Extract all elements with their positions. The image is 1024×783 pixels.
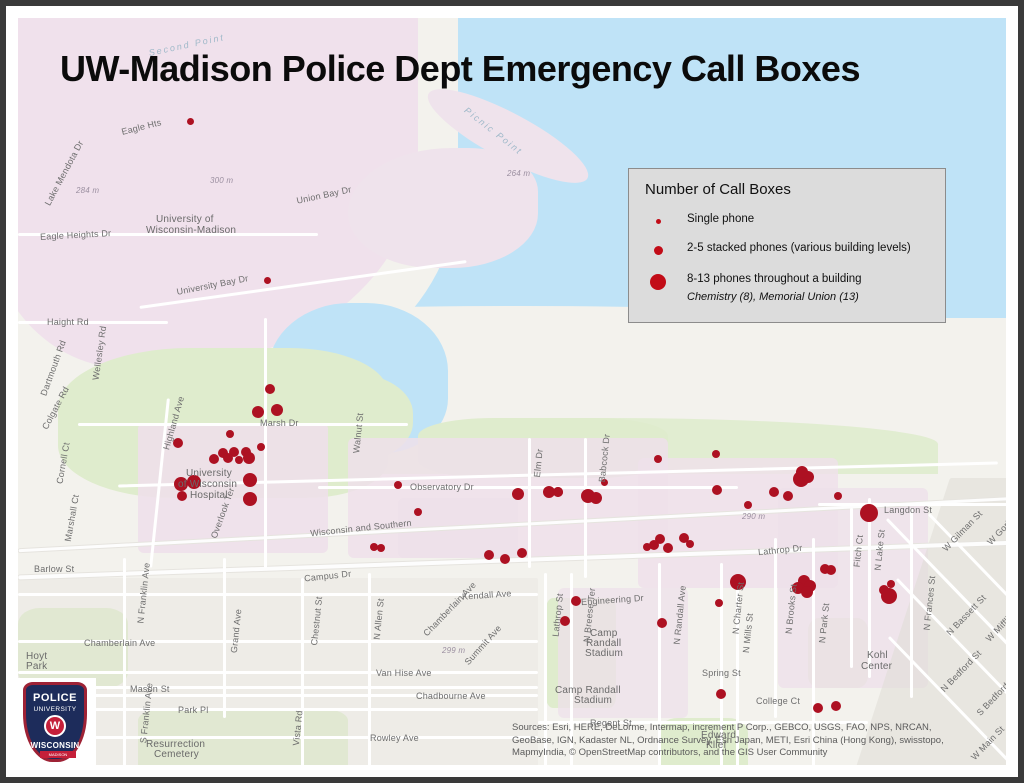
place-label: University of [156, 214, 214, 225]
road-n-brooks-st [774, 538, 777, 718]
call-box-marker[interactable] [769, 487, 779, 497]
call-box-marker[interactable] [801, 586, 813, 598]
street-label: Langdon St [884, 505, 932, 515]
sources-line-3: MapmyIndia, © OpenStreetMap contributors… [512, 747, 1017, 760]
road-fitch-ct [850, 508, 853, 668]
call-box-marker[interactable] [643, 543, 651, 551]
badge-w-monogram-icon: W [44, 715, 66, 737]
legend-label-large: 8-13 phones throughout a building [687, 273, 862, 285]
road-elm-dr [528, 438, 531, 568]
elevation-label: 300 m [210, 176, 233, 185]
road-rowley-ave [18, 736, 538, 739]
call-box-marker[interactable] [716, 689, 726, 699]
legend-title: Number of Call Boxes [645, 181, 791, 198]
call-box-marker[interactable] [826, 565, 836, 575]
road-mason-st [18, 686, 538, 689]
legend-marker-large [650, 274, 666, 290]
road-park-pl [18, 708, 538, 711]
call-box-marker[interactable] [834, 492, 842, 500]
call-box-marker[interactable] [377, 544, 385, 552]
road-haight-rd [18, 321, 168, 324]
call-box-marker[interactable] [796, 466, 808, 478]
call-box-marker[interactable] [177, 491, 187, 501]
badge-line-university: UNIVERSITY [26, 706, 84, 713]
call-box-marker[interactable] [414, 508, 422, 516]
call-box-marker[interactable] [512, 488, 524, 500]
sources-line-1: Sources: Esri, HERE, DeLorme, Intermap, … [512, 722, 1017, 735]
call-box-marker[interactable] [243, 473, 257, 487]
call-box-marker[interactable] [223, 453, 233, 463]
elevation-label: 284 m [76, 186, 99, 195]
place-label: Wisconsin-Madison [146, 225, 236, 236]
call-box-marker[interactable] [517, 548, 527, 558]
call-box-marker[interactable] [831, 701, 841, 711]
call-box-marker[interactable] [881, 588, 897, 604]
call-box-marker[interactable] [484, 550, 494, 560]
call-box-marker[interactable] [663, 543, 673, 553]
street-label: Observatory Dr [410, 482, 474, 492]
elevation-label: 290 m [742, 512, 765, 521]
call-box-marker[interactable] [257, 443, 265, 451]
legend-label-medium: 2-5 stacked phones (various building lev… [687, 242, 911, 254]
call-box-marker[interactable] [590, 492, 602, 504]
road-van-hise-ave [18, 671, 538, 674]
call-box-marker[interactable] [657, 618, 667, 628]
page-title: UW-Madison Police Dept Emergency Call Bo… [60, 48, 860, 90]
place-label: Cemetery [154, 749, 199, 760]
legend-marker-small [656, 219, 661, 224]
place-label: Center [861, 661, 892, 672]
place-label: Park [26, 661, 47, 672]
call-box-marker[interactable] [712, 450, 720, 458]
call-box-marker[interactable] [252, 406, 264, 418]
road-n-frances-st [910, 508, 913, 698]
call-box-marker[interactable] [860, 504, 878, 522]
badge-line-wisconsin: WISCONSIN [26, 741, 84, 750]
street-label: Chamberlain Ave [84, 638, 155, 648]
call-box-marker[interactable] [226, 430, 234, 438]
call-box-marker[interactable] [271, 404, 283, 416]
badge-line-madison: MADISON [40, 751, 76, 758]
map-poster: Second PointPicnic PointUniversity ofWis… [0, 0, 1024, 783]
call-box-marker[interactable] [209, 454, 219, 464]
elevation-label: 299 m [442, 646, 465, 655]
call-box-marker[interactable] [500, 554, 510, 564]
street-label: Van Hise Ave [376, 668, 432, 678]
street-label: College Ct [756, 696, 800, 706]
sources-line-2: GeoBase, IGN, Kadaster NL, Ordnance Surv… [512, 735, 1017, 748]
map-canvas[interactable]: Second PointPicnic PointUniversity ofWis… [18, 18, 1006, 765]
call-box-marker[interactable] [394, 481, 402, 489]
place-label: Stadium [585, 648, 623, 659]
call-box-marker[interactable] [243, 492, 257, 506]
elevation-label: 264 m [507, 169, 530, 178]
street-label: Chadbourne Ave [416, 691, 486, 701]
call-box-marker[interactable] [686, 540, 694, 548]
call-box-marker[interactable] [571, 596, 581, 606]
road-walnut-st [264, 318, 267, 568]
call-box-marker[interactable] [265, 384, 275, 394]
call-box-marker[interactable] [187, 118, 194, 125]
legend-label-single: Single phone [687, 213, 754, 225]
call-box-marker[interactable] [783, 491, 793, 501]
place-label: Stadium [574, 695, 612, 706]
call-box-marker[interactable] [243, 452, 255, 464]
road-babcock-dr [584, 438, 587, 578]
legend-marker-medium [654, 246, 663, 255]
call-box-marker[interactable] [654, 455, 662, 463]
street-label: Mason St [130, 684, 170, 694]
uw-police-badge-logo: POLICE UNIVERSITY W WISCONSIN MADISON [14, 678, 96, 768]
street-label: Park Pl [178, 705, 208, 715]
street-label: Barlow St [34, 564, 74, 574]
street-label: Spring St [702, 668, 741, 678]
badge-shield: POLICE UNIVERSITY W WISCONSIN MADISON [23, 682, 87, 762]
street-label: Rowley Ave [370, 733, 419, 743]
sources-attribution: Sources: Esri, HERE, DeLorme, Intermap, … [512, 722, 1017, 760]
street-label: Marsh Dr [260, 418, 299, 428]
place-label: University [186, 468, 232, 479]
legend-sublabel-large: Chemistry (8), Memorial Union (13) [687, 291, 859, 303]
legend-panel[interactable]: Number of Call Boxes Single phone 2-5 st… [628, 168, 946, 323]
call-box-marker[interactable] [715, 599, 723, 607]
call-box-marker[interactable] [744, 501, 752, 509]
call-box-marker[interactable] [553, 487, 563, 497]
badge-line-police: POLICE [26, 692, 84, 704]
badge-monogram-letter: W [46, 720, 64, 732]
call-box-marker[interactable] [712, 485, 722, 495]
street-label: Haight Rd [47, 317, 89, 327]
road-franklin-ave [123, 558, 126, 765]
place-label: Kohl [867, 650, 888, 661]
call-box-marker[interactable] [887, 580, 895, 588]
call-box-marker[interactable] [235, 456, 243, 464]
call-box-marker[interactable] [813, 703, 823, 713]
call-box-marker[interactable] [173, 438, 183, 448]
call-box-marker[interactable] [264, 277, 271, 284]
road-grand-ave [223, 558, 226, 718]
